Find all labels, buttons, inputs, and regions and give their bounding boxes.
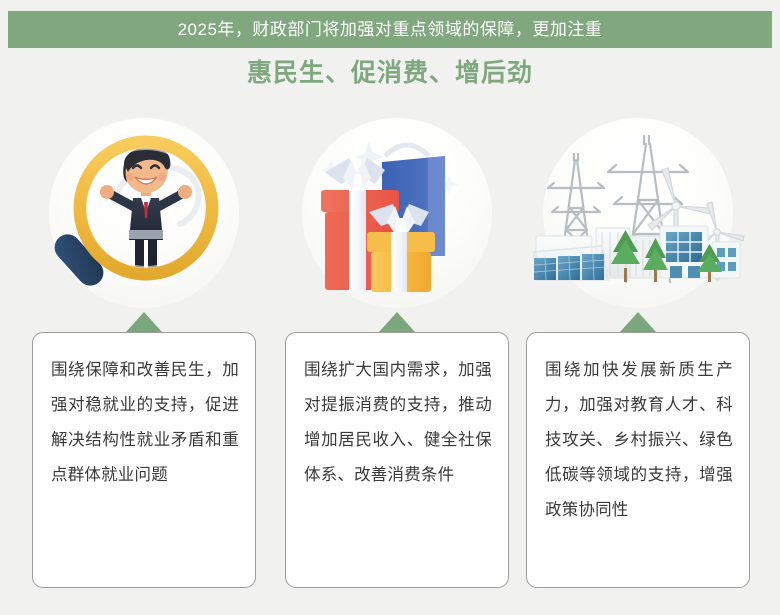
header-banner: 2025年，财政部门将加强对重点领域的保障，更加注重 (8, 11, 772, 48)
page-subtitle: 惠民生、促消费、增后劲 (0, 58, 780, 88)
card-body-2: 围绕扩大国内需求，加强对提振消费的支持，推动增加居民收入、健全社保体系、改善消费… (304, 353, 492, 493)
info-card-3: 围绕加快发展新质生产力，加强对教育人才、科技攻关、乡村振兴、绿色低碳等领域的支持… (526, 332, 750, 588)
content-column-3: 围绕加快发展新质生产力，加强对教育人才、科技攻关、乡村振兴、绿色低碳等领域的支持… (526, 112, 750, 615)
magnifier-businessman-icon (44, 112, 244, 302)
content-column-2: 围绕扩大国内需求，加强对提振消费的支持，推动增加居民收入、健全社保体系、改善消费… (285, 112, 509, 615)
card-body-3: 围绕加快发展新质生产力，加强对教育人才、科技攻关、乡村振兴、绿色低碳等领域的支持… (545, 353, 733, 528)
power-grid-wind-solar-icon (530, 112, 746, 302)
gift-boxes-shopping-bag-icon (297, 112, 497, 302)
illustration-3 (526, 112, 750, 302)
card-pointer-2 (379, 312, 415, 332)
content-column-1: 围绕保障和改善民生，加强对稳就业的支持，促进解决结构性就业矛盾和重点群体就业问题 (32, 112, 256, 615)
card-pointer-3 (620, 312, 656, 332)
card-pointer-1 (126, 312, 162, 332)
illustration-2 (285, 112, 509, 302)
card-body-1: 围绕保障和改善民生，加强对稳就业的支持，促进解决结构性就业矛盾和重点群体就业问题 (51, 353, 239, 493)
content-columns: 围绕保障和改善民生，加强对稳就业的支持，促进解决结构性就业矛盾和重点群体就业问题 (0, 112, 780, 615)
info-card-2: 围绕扩大国内需求，加强对提振消费的支持，推动增加居民收入、健全社保体系、改善消费… (285, 332, 509, 588)
illustration-1 (32, 112, 256, 302)
info-card-1: 围绕保障和改善民生，加强对稳就业的支持，促进解决结构性就业矛盾和重点群体就业问题 (32, 332, 256, 588)
header-headline: 2025年，财政部门将加强对重点领域的保障，更加注重 (178, 21, 603, 38)
